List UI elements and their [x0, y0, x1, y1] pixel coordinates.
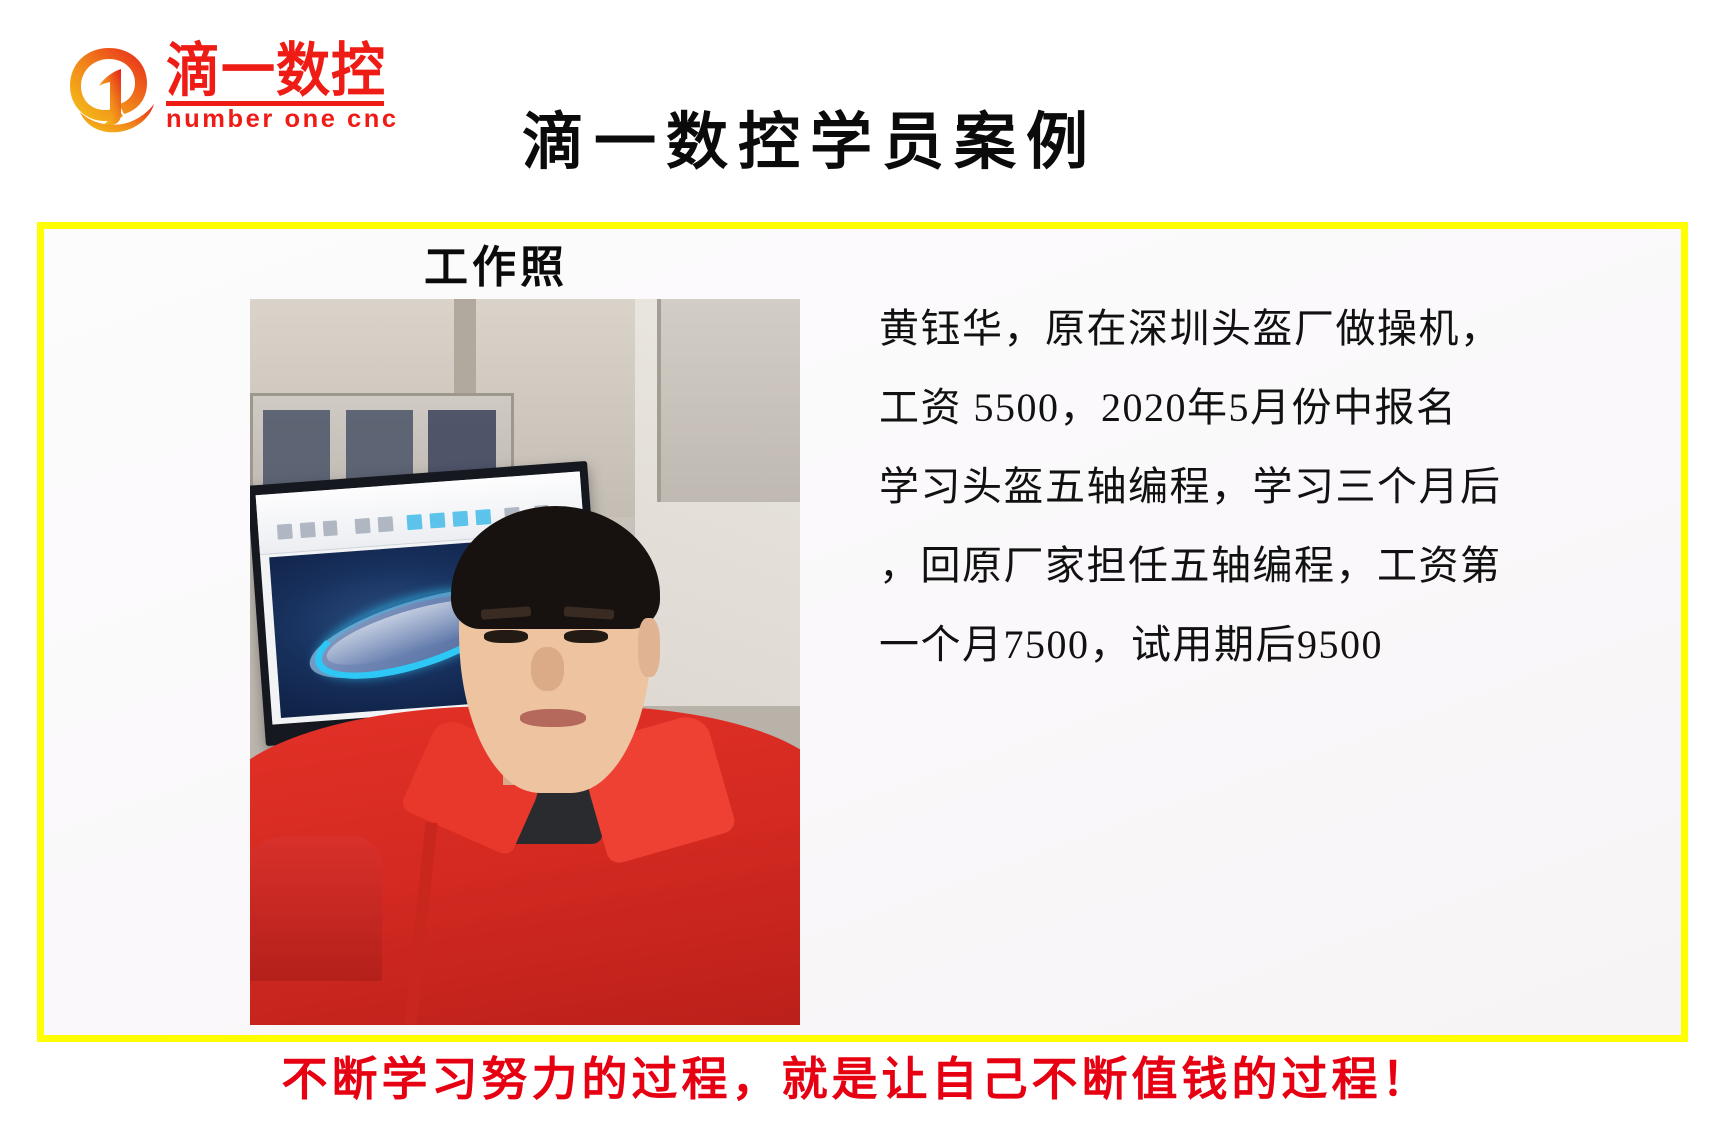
photo-person-eye — [484, 630, 528, 643]
toolbar-icon — [406, 514, 422, 530]
story-line: 学习头盔五轴编程，学习三个月后 — [879, 447, 1649, 526]
story-line: 黄钰华，原在深圳头盔厂做操机， — [879, 289, 1649, 368]
toolbar-icon — [276, 524, 292, 540]
toolbar-icon — [354, 518, 370, 534]
story-line: 工资 5500，2020年5月份中报名 — [879, 368, 1649, 447]
photo-person-nose — [531, 647, 564, 691]
photo-door — [657, 299, 800, 502]
toolbar-icon — [299, 522, 315, 538]
toolbar-icon — [452, 511, 468, 527]
toolbar-icon — [475, 509, 491, 525]
photo-caption: 工作照 — [424, 243, 568, 293]
story-line: 一个月7500，试用期后9500 — [879, 605, 1649, 684]
photo-person-arm — [250, 836, 382, 981]
slide-canvas: 滴一数控 number one cnc 滴一数控学员案例 工作照 — [0, 0, 1713, 1132]
brand-wordmark: 滴一数控 number one cnc — [166, 43, 394, 133]
brand-name-cn: 滴一数控 — [166, 41, 394, 101]
photo-person-mouth — [520, 709, 586, 726]
toolbar-icon — [429, 513, 445, 529]
brand-logo[interactable]: 滴一数控 number one cnc — [62, 38, 382, 138]
photo-person-ear — [638, 618, 660, 676]
student-work-photo — [250, 299, 800, 1025]
toolbar-icon — [377, 517, 393, 533]
brand-name-en: number one cnc — [166, 106, 399, 133]
photo-person-eye — [564, 630, 608, 643]
number-one-cnc-swoosh-icon — [62, 42, 158, 134]
footer-slogan: 不断学习努力的过程，就是让自己不断值钱的过程！ — [0, 1052, 1713, 1108]
student-story-text: 黄钰华，原在深圳头盔厂做操机， 工资 5500，2020年5月份中报名 学习头盔… — [879, 289, 1649, 684]
story-line: ，回原厂家担任五轴编程，工资第 — [879, 526, 1649, 605]
toolbar-icon — [322, 521, 338, 537]
page-title: 滴一数控学员案例 — [430, 108, 1190, 178]
content-frame: 工作照 — [37, 222, 1688, 1042]
